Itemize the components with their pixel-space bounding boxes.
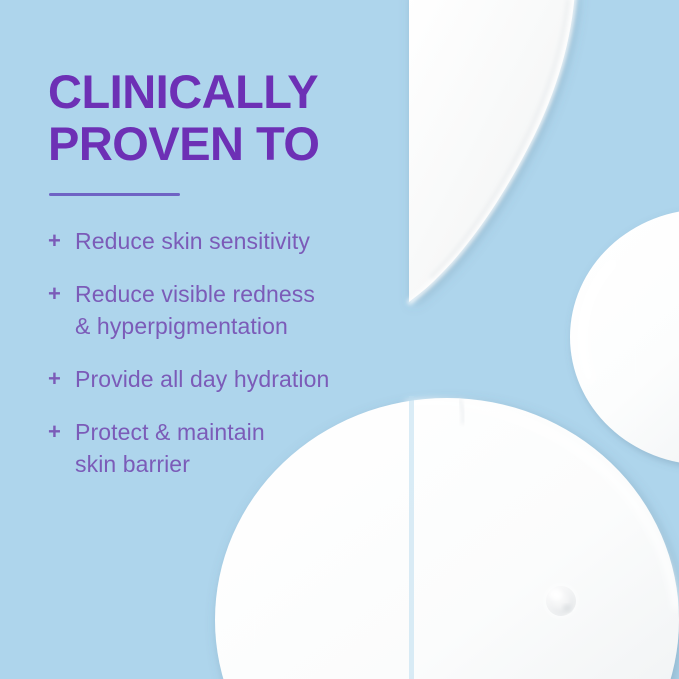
cream-blob-top-left-highlight (410, 0, 575, 302)
page-title: CLINICALLY PROVEN TO (48, 66, 319, 170)
clinically-proven-card: CLINICALLY PROVEN TO + Reduce skin sensi… (0, 0, 679, 679)
list-item: + Protect & maintain skin barrier (48, 416, 398, 480)
benefit-label: Provide all day hydration (75, 363, 398, 395)
cream-blob-right-circle-highlight (583, 264, 612, 378)
benefit-label: Reduce visible redness & hyperpigmentati… (75, 278, 398, 342)
plus-icon: + (48, 363, 75, 395)
benefit-label: Protect & maintain skin barrier (75, 416, 398, 480)
cream-blob-bottom-crease (460, 400, 463, 423)
plus-icon: + (48, 225, 75, 257)
cream-bubble-detail (546, 586, 576, 616)
cream-blob-bottom-highlight (409, 403, 676, 606)
list-item: + Reduce visible redness & hyperpigmenta… (48, 278, 398, 342)
list-item: + Reduce skin sensitivity (48, 225, 398, 257)
cream-blob-top-left (409, 0, 575, 302)
plus-icon: + (48, 278, 75, 310)
benefits-list: + Reduce skin sensitivity + Reduce visib… (48, 225, 398, 501)
copy-panel: CLINICALLY PROVEN TO + Reduce skin sensi… (0, 0, 410, 679)
headline-divider (49, 193, 180, 196)
cream-blob-right-circle (570, 209, 679, 465)
cream-blob-top-left-crease (431, 0, 568, 277)
benefit-label: Reduce skin sensitivity (75, 225, 398, 257)
plus-icon: + (48, 416, 75, 448)
list-item: + Provide all day hydration (48, 363, 398, 395)
